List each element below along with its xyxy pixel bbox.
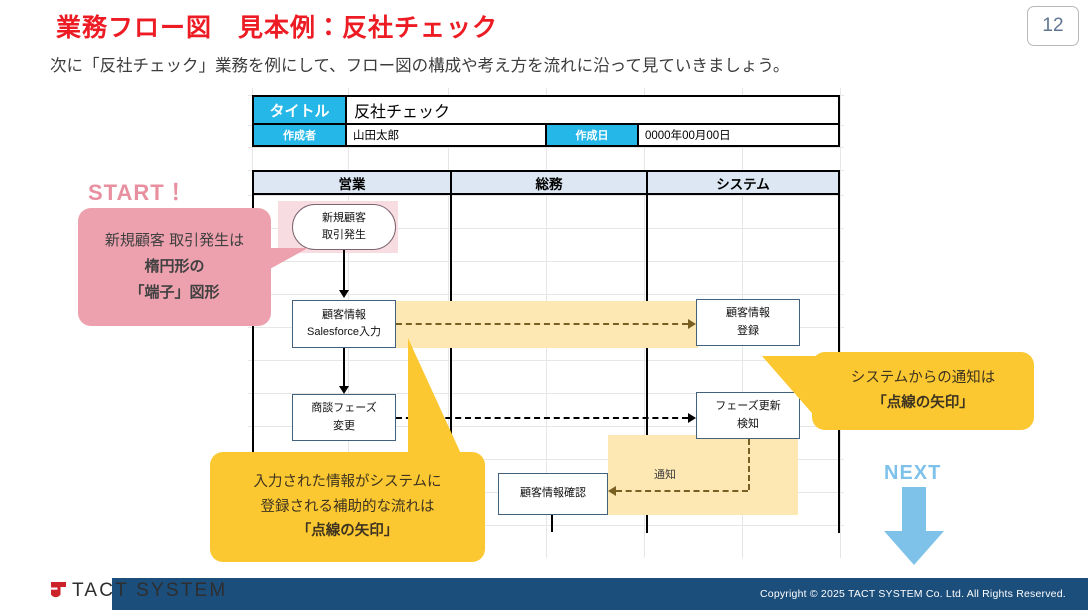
flow-node-start-line1: 新規顧客 xyxy=(322,210,366,227)
swimlane-header: 営業 総務 システム xyxy=(252,170,840,195)
sheet-title-row: タイトル 反社チェック xyxy=(252,95,840,125)
page-subtitle: 次に「反社チェック」業務を例にして、フロー図の構成や考え方を流れに沿って見ていき… xyxy=(50,52,789,76)
sheet-title-value: 反社チェック xyxy=(347,97,838,123)
flow-node-customer-confirm: 顧客情報確認 xyxy=(498,473,608,515)
callout-terminator-line2: 楕円形の xyxy=(144,254,204,280)
flow-node-start-line2: 取引発生 xyxy=(322,227,366,244)
arrowhead-input-to-phase xyxy=(339,386,349,394)
callout-terminator-tail xyxy=(268,248,308,270)
sheet-title-label: タイトル xyxy=(254,97,347,123)
callout-dashed-arrow-notify-line1: システムからの通知は xyxy=(851,366,996,391)
arrowhead-notify-to-confirm xyxy=(608,486,616,496)
flow-node-salesforce-input-line2: Salesforce入力 xyxy=(307,324,381,341)
flow-node-customer-register-line1: 顧客情報 xyxy=(726,305,770,322)
callout-dashed-arrow-input-tail xyxy=(408,338,462,456)
connector-confirm-down xyxy=(551,515,553,532)
author-value: 山田太郎 xyxy=(347,125,547,145)
flow-node-phase-change: 商談フェーズ 変更 xyxy=(292,394,396,441)
tact-logo-icon xyxy=(50,581,67,601)
connector-notify-to-confirm xyxy=(616,490,748,492)
start-label: START！ xyxy=(88,175,188,207)
flow-node-phase-change-line2: 変更 xyxy=(333,418,355,435)
callout-terminator-line3: 「端子」図形 xyxy=(129,280,219,306)
connector-start-to-input xyxy=(343,250,345,292)
copyright-text: Copyright © 2025 TACT SYSTEM Co. Ltd. Al… xyxy=(760,588,1066,600)
connector-input-to-phase xyxy=(343,348,345,388)
author-label: 作成者 xyxy=(254,125,347,145)
gridline-vertical xyxy=(840,88,841,558)
callout-terminator-line1: 新規顧客 取引発生は xyxy=(105,228,244,254)
edge-label-notify: 通知 xyxy=(654,466,676,482)
callout-dashed-arrow-notify-line2: 「点線の矢印」 xyxy=(872,391,974,416)
flow-node-salesforce-input-line1: 顧客情報 xyxy=(322,307,366,324)
flow-node-salesforce-input: 顧客情報 Salesforce入力 xyxy=(292,300,396,348)
date-value: 0000年00月00日 xyxy=(639,125,838,145)
arrowhead-phase-to-detect xyxy=(688,413,696,423)
flow-node-customer-confirm-line1: 顧客情報確認 xyxy=(520,485,586,502)
date-label: 作成日 xyxy=(547,125,639,145)
flow-node-customer-register: 顧客情報 登録 xyxy=(696,299,800,346)
flow-node-customer-register-line2: 登録 xyxy=(737,323,759,340)
sheet-meta-row: 作成者 山田太郎 作成日 0000年00月00日 xyxy=(252,125,840,147)
lane-header-sales: 営業 xyxy=(254,172,452,193)
callout-dashed-arrow-input-line3: 「点線の矢印」 xyxy=(297,519,399,544)
lane-header-general-affairs: 総務 xyxy=(452,172,648,193)
arrowhead-start-to-input xyxy=(339,290,349,298)
page-number-badge: 12 xyxy=(1027,6,1079,46)
arrowhead-input-to-register xyxy=(688,319,696,329)
logo: TACT SYSTEM xyxy=(50,578,227,604)
highlight-band-notify xyxy=(608,435,798,515)
connector-detect-drop xyxy=(748,439,750,490)
page-title: 業務フロー図 見本例：反社チェック xyxy=(56,8,498,44)
callout-dashed-arrow-notify-tail xyxy=(762,356,818,420)
lane-header-system: システム xyxy=(648,172,838,193)
callout-dashed-arrow-input-line1: 入力された情報がシステムに xyxy=(253,470,441,495)
callout-dashed-arrow-notify: システムからの通知は 「点線の矢印」 xyxy=(812,352,1034,430)
callout-dashed-arrow-input: 入力された情報がシステムに 登録される補助的な流れは 「点線の矢印」 xyxy=(210,452,485,562)
flow-node-phase-change-line1: 商談フェーズ xyxy=(311,400,376,417)
gridline-horizontal xyxy=(248,147,844,148)
callout-dashed-arrow-input-line2: 登録される補助的な流れは xyxy=(261,495,435,520)
flow-node-phase-detect-line2: 検知 xyxy=(737,416,759,433)
logo-text: TACT SYSTEM xyxy=(72,580,227,602)
next-label: NEXT xyxy=(884,462,941,485)
next-arrow-icon[interactable] xyxy=(880,487,948,567)
callout-terminator: 新規顧客 取引発生は 楕円形の 「端子」図形 xyxy=(78,208,271,326)
flow-node-start: 新規顧客 取引発生 xyxy=(292,204,396,250)
connector-input-to-register xyxy=(396,323,688,325)
